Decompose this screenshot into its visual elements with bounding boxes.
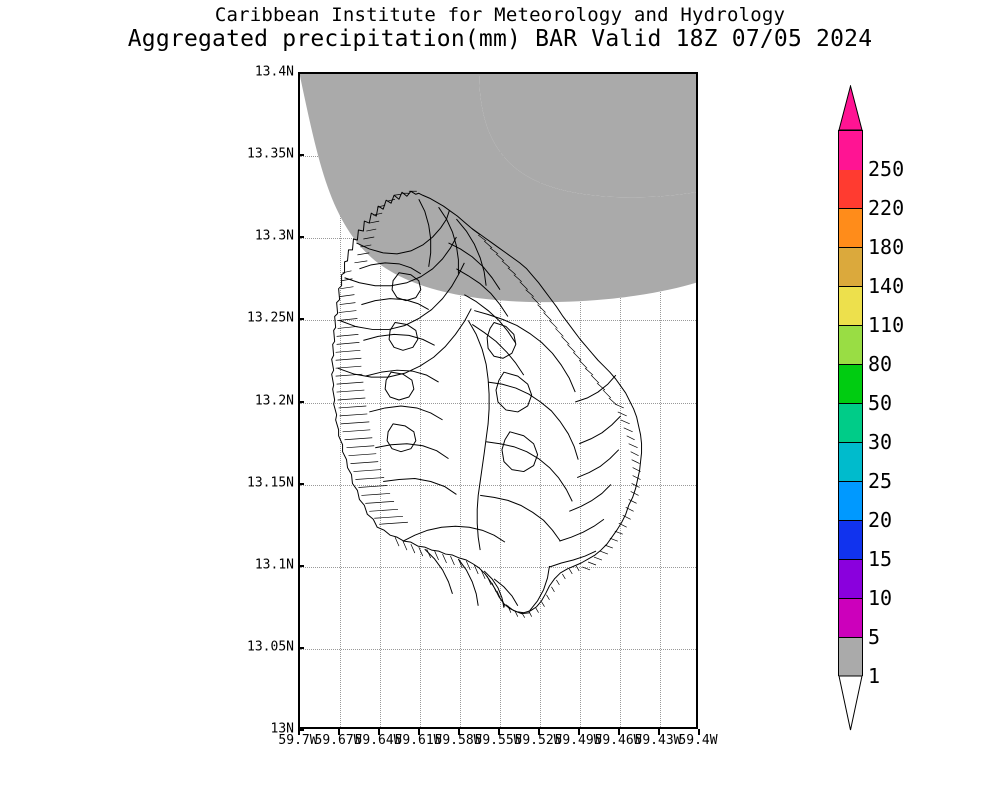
colorbar-tick-label: 80 [868, 352, 892, 376]
colorbar-tick-label: 140 [868, 274, 904, 298]
colorbar-tick-label: 50 [868, 391, 892, 415]
colorbar-over-arrow [838, 85, 863, 131]
colorbar-segment [839, 209, 862, 248]
colorbar-segment [839, 248, 862, 287]
y-axis-tick [298, 236, 304, 238]
chart-title: Aggregated precipitation(mm) BAR Valid 1… [0, 26, 1000, 52]
colorbar-segment [839, 521, 862, 560]
precipitation-colorbar: 1510152025305080110140180220250 [838, 85, 863, 720]
colorbar-segment [839, 131, 862, 170]
colorbar-tick-label: 15 [868, 547, 892, 571]
colorbar-tick-label: 5 [868, 625, 880, 649]
x-axis-tick [578, 729, 580, 735]
colorbar-tick-label: 250 [868, 157, 904, 181]
y-axis-tick-label: 13.4N [255, 65, 294, 80]
y-axis-tick [298, 565, 304, 567]
colorbar-segment [839, 599, 862, 638]
y-axis-tick [298, 729, 304, 731]
y-axis-tick-label: 13.15N [247, 475, 294, 490]
colorbar-segment [839, 326, 862, 365]
y-axis-labels: 13.4N13.35N13.3N13.25N13.2N13.15N13.1N13… [188, 72, 294, 729]
x-axis-tick [338, 729, 340, 735]
x-axis-tick [378, 729, 380, 735]
y-axis-tick [298, 483, 304, 485]
map-plot-area [298, 72, 698, 729]
colorbar-segment [839, 482, 862, 521]
colorbar-tick-label: 220 [868, 196, 904, 220]
colorbar-segments [838, 130, 863, 676]
x-axis-tick-label: 59.43W [635, 733, 682, 748]
colorbar-segment [839, 287, 862, 326]
colorbar-segment [839, 404, 862, 443]
colorbar-tick-label: 20 [868, 508, 892, 532]
y-axis-tick [298, 647, 304, 649]
x-axis-tick [538, 729, 540, 735]
colorbar-tick-label: 25 [868, 469, 892, 493]
x-axis-tick [498, 729, 500, 735]
x-axis-tick [418, 729, 420, 735]
y-axis-tick-label: 13.05N [247, 639, 294, 654]
colorbar-tick-label: 10 [868, 586, 892, 610]
colorbar-tick-label: 1 [868, 664, 880, 688]
x-axis-tick-label: 59.7W [278, 733, 317, 748]
x-axis-tick [618, 729, 620, 735]
colorbar-segment [839, 560, 862, 599]
colorbar-tick-label: 30 [868, 430, 892, 454]
y-axis-tick-label: 13.25N [247, 311, 294, 326]
y-axis-tick-label: 13.1N [255, 557, 294, 572]
x-axis-tick [458, 729, 460, 735]
x-axis-labels: 59.7W59.67W59.64W59.61W59.58W59.55W59.52… [0, 733, 1000, 751]
y-axis-tick [298, 154, 304, 156]
y-axis-tick [298, 401, 304, 403]
colorbar-tick-label: 180 [868, 235, 904, 259]
title-block: Caribbean Institute for Meteorology and … [0, 4, 1000, 52]
barbados-island-map [300, 74, 696, 727]
x-axis-tick-label: 59.4W [678, 733, 717, 748]
colorbar-segment [839, 638, 862, 677]
institute-title: Caribbean Institute for Meteorology and … [0, 4, 1000, 26]
y-axis-tick [298, 72, 304, 74]
x-axis-tick [698, 729, 700, 735]
x-axis-tick [658, 729, 660, 735]
colorbar-segment [839, 170, 862, 209]
y-axis-tick-label: 13.3N [255, 229, 294, 244]
colorbar-segment [839, 443, 862, 482]
y-axis-tick-label: 13.2N [255, 393, 294, 408]
colorbar-segment [839, 365, 862, 404]
colorbar-tick-label: 110 [868, 313, 904, 337]
y-axis-tick [298, 318, 304, 320]
y-axis-tick-label: 13.35N [247, 147, 294, 162]
colorbar-under-arrow [838, 675, 863, 731]
